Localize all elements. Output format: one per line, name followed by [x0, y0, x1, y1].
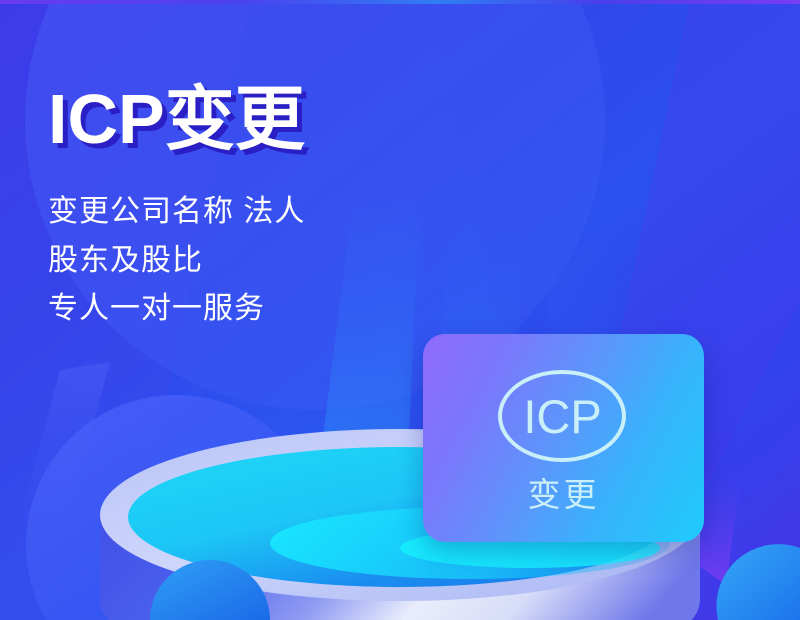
headline-block: ICP变更 变更公司名称 法人 股东及股比 专人一对一服务 — [48, 84, 448, 334]
page-title: ICP变更 — [48, 84, 448, 154]
icp-card: ICP 变更 — [423, 334, 704, 542]
icp-change-banner: ICP 变更 ICP变更 变更公司名称 法人 股东及股比 专人一对一服务 — [0, 0, 800, 620]
subtitle-list: 变更公司名称 法人 股东及股比 专人一对一服务 — [48, 188, 448, 334]
subtitle-line-1: 变更公司名称 法人 — [48, 188, 448, 237]
icp-card-content: ICP 变更 — [423, 334, 704, 542]
top-strip — [0, 0, 800, 4]
subtitle-line-2: 股东及股比 — [48, 237, 448, 286]
icp-card-caption: 变更 — [528, 478, 600, 511]
icp-badge-label: ICP — [523, 393, 601, 440]
icp-badge: ICP — [498, 370, 630, 466]
subtitle-line-3: 专人一对一服务 — [48, 285, 448, 334]
